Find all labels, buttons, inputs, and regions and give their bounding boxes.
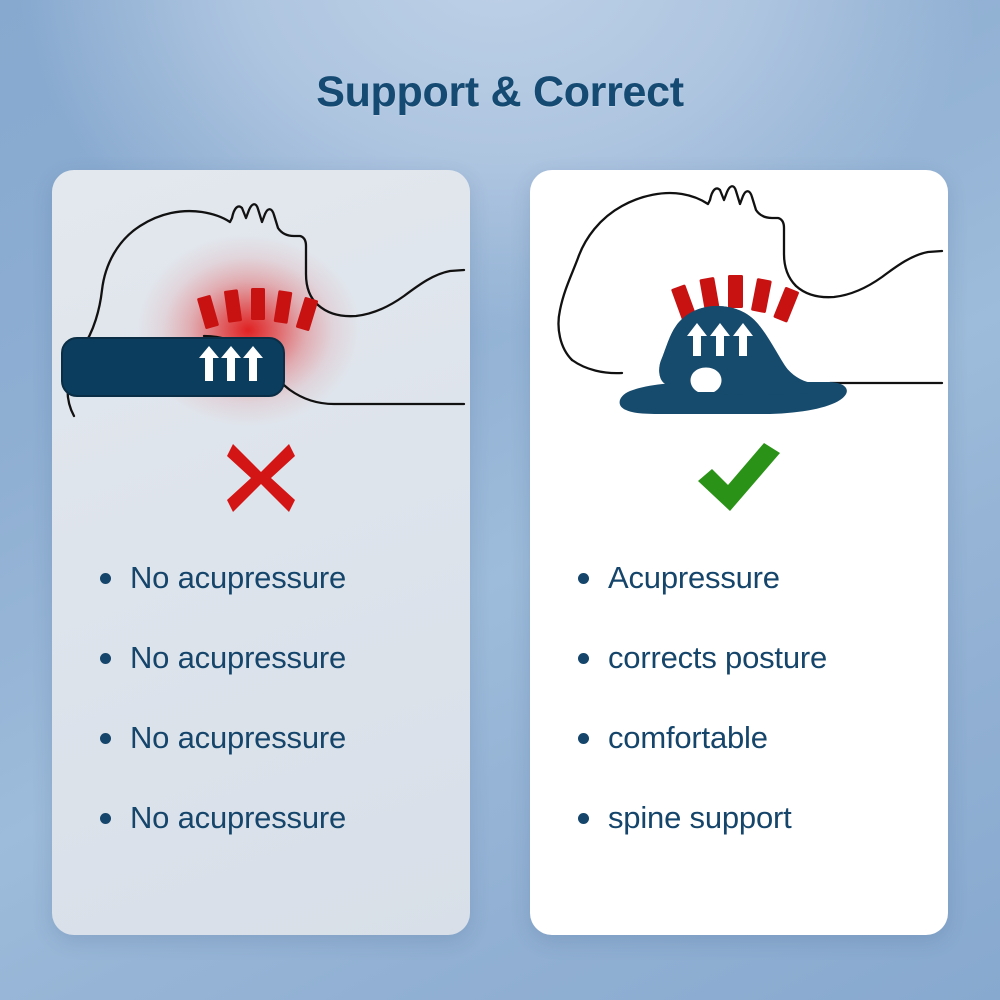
bullet-dot-icon <box>578 813 589 824</box>
comparison-card-good: Acupressure corrects posture comfortable… <box>530 170 948 935</box>
list-item: Acupressure <box>530 538 948 618</box>
list-item: No acupressure <box>52 618 470 698</box>
bullet-list-bad: No acupressure No acupressure No acupres… <box>52 538 470 858</box>
contoured-pillow-shape <box>620 306 847 414</box>
upward-pressure-arrows-icon <box>687 323 753 356</box>
green-check-icon <box>696 441 782 515</box>
verdict-good <box>530 428 948 528</box>
bullet-label: corrects posture <box>608 640 827 676</box>
bullet-label: No acupressure <box>130 800 346 836</box>
list-item: No acupressure <box>52 538 470 618</box>
bullet-label: comfortable <box>608 720 768 756</box>
infographic-stage: Support & Correct <box>0 0 1000 1000</box>
page-title: Support & Correct <box>0 68 1000 117</box>
bullet-list-good: Acupressure corrects posture comfortable… <box>530 538 948 858</box>
bullet-dot-icon <box>100 733 111 744</box>
list-item: corrects posture <box>530 618 948 698</box>
bullet-label: spine support <box>608 800 792 836</box>
bullet-dot-icon <box>578 733 589 744</box>
contoured-cervical-pillow-illustration <box>530 178 948 428</box>
bullet-dot-icon <box>100 653 111 664</box>
bullet-label: No acupressure <box>130 640 346 676</box>
bullet-dot-icon <box>578 573 589 584</box>
bullet-dot-icon <box>100 813 111 824</box>
red-cross-icon <box>225 442 297 514</box>
list-item: No acupressure <box>52 778 470 858</box>
comparison-card-bad: No acupressure No acupressure No acupres… <box>52 170 470 935</box>
list-item: No acupressure <box>52 698 470 778</box>
bullet-label: No acupressure <box>130 560 346 596</box>
bullet-dot-icon <box>578 653 589 664</box>
bullet-dot-icon <box>100 573 111 584</box>
verdict-bad <box>52 428 470 528</box>
list-item: comfortable <box>530 698 948 778</box>
bullet-label: No acupressure <box>130 720 346 756</box>
upward-pressure-arrows-icon <box>199 346 263 381</box>
flat-pillow-neck-pain-illustration <box>52 178 470 428</box>
list-item: spine support <box>530 778 948 858</box>
pain-glow-icon <box>136 234 360 426</box>
bullet-label: Acupressure <box>608 560 780 596</box>
